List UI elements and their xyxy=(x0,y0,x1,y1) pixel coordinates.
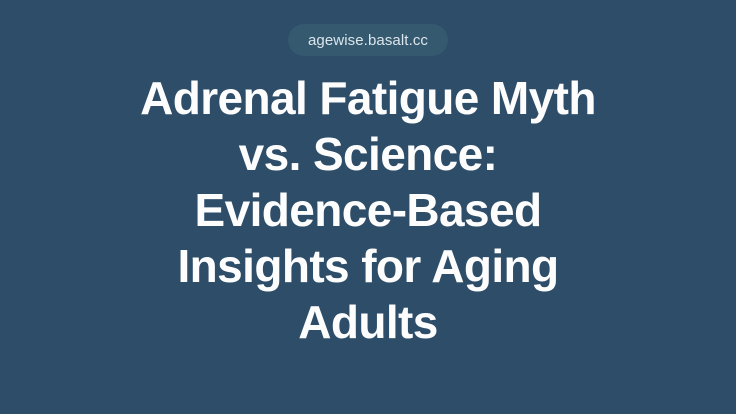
title-line-1: Adrenal Fatigue Myth xyxy=(40,70,696,126)
title-line-3: Evidence-Based xyxy=(40,182,696,238)
social-share-card: agewise.basalt.cc Adrenal Fatigue Myth v… xyxy=(0,0,736,414)
title-line-5: Adults xyxy=(40,294,696,350)
title-line-4: Insights for Aging xyxy=(40,238,696,294)
page-title: Adrenal Fatigue Myth vs. Science: Eviden… xyxy=(40,70,696,350)
title-line-2: vs. Science: xyxy=(40,126,696,182)
domain-badge: agewise.basalt.cc xyxy=(288,24,448,56)
